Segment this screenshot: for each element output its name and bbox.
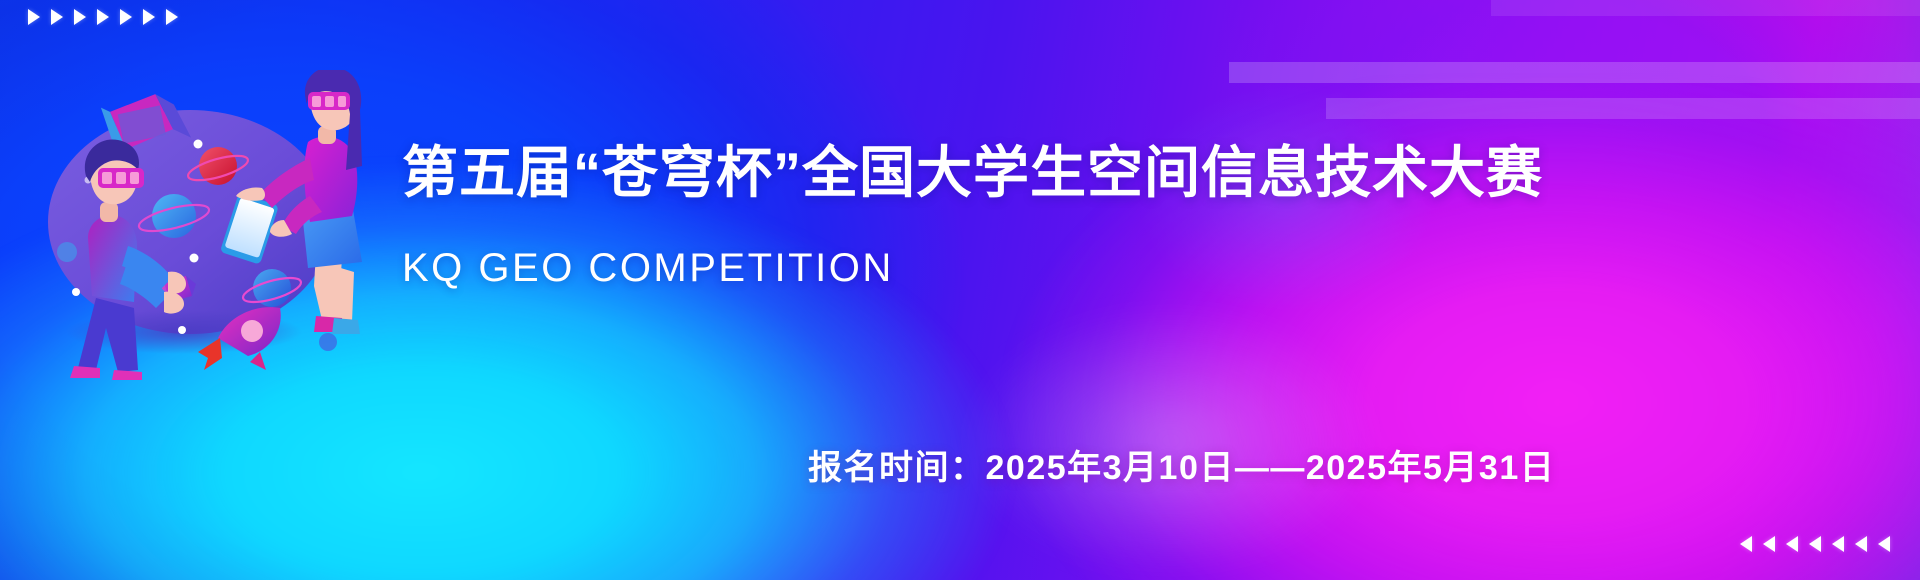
banner-subheadline: KQ GEO COMPETITION [402,246,894,291]
vr-students-space-illustration [22,70,362,380]
triangle-left-icon [1786,536,1798,552]
triangle-left-icon [1763,536,1775,552]
star-dot [319,333,337,351]
bottom-right-arrow-group [1740,536,1890,552]
triangle-right-icon [28,9,40,25]
triangle-left-icon [1740,536,1752,552]
banner-headline: 第五届“苍穹杯”全国大学生空间信息技术大赛 [402,128,1543,209]
triangle-right-icon [166,9,178,25]
registration-period: 报名时间：2025年3月10日——2025年5月31日 [808,440,1555,489]
star-dot [57,242,77,262]
triangle-right-icon [51,9,63,25]
competition-banner: 第五届“苍穹杯”全国大学生空间信息技术大赛 KQ GEO COMPETITION… [0,0,1920,580]
triangle-left-icon [1832,536,1844,552]
triangle-right-icon [120,9,132,25]
triangle-right-icon [143,9,155,25]
star-dot [190,254,199,263]
triangle-left-icon [1809,536,1821,552]
star-dot [72,288,80,296]
star-dot [178,326,186,334]
triangle-left-icon [1855,536,1867,552]
star-dot [194,140,203,149]
top-left-arrow-group [28,9,178,25]
triangle-right-icon [74,9,86,25]
triangle-right-icon [97,9,109,25]
triangle-left-icon [1878,536,1890,552]
